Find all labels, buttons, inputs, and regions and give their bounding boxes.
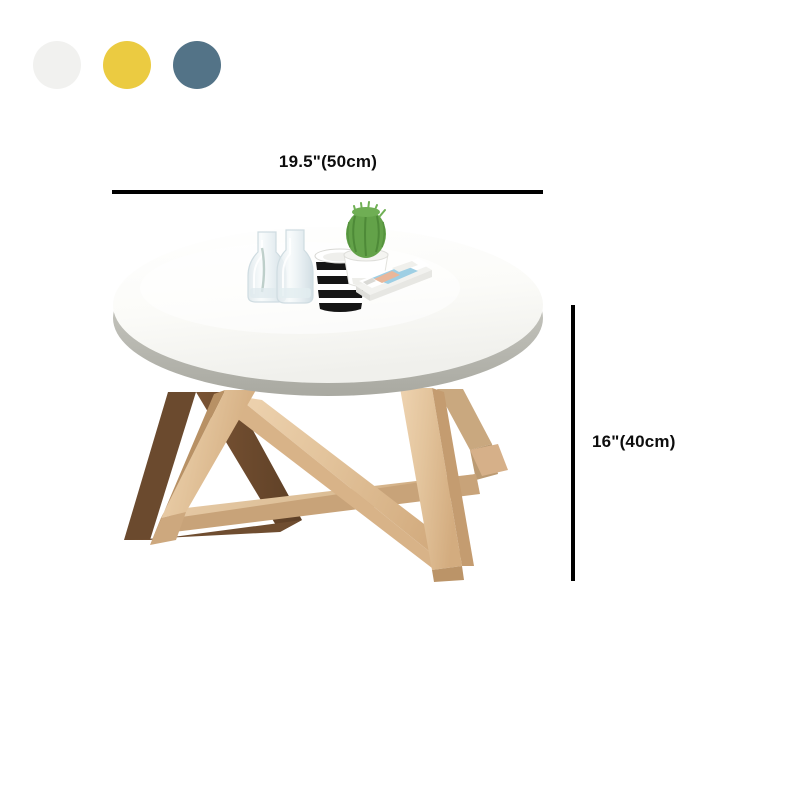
product-illustration xyxy=(0,0,800,800)
wooden-cross-legs xyxy=(124,388,508,582)
